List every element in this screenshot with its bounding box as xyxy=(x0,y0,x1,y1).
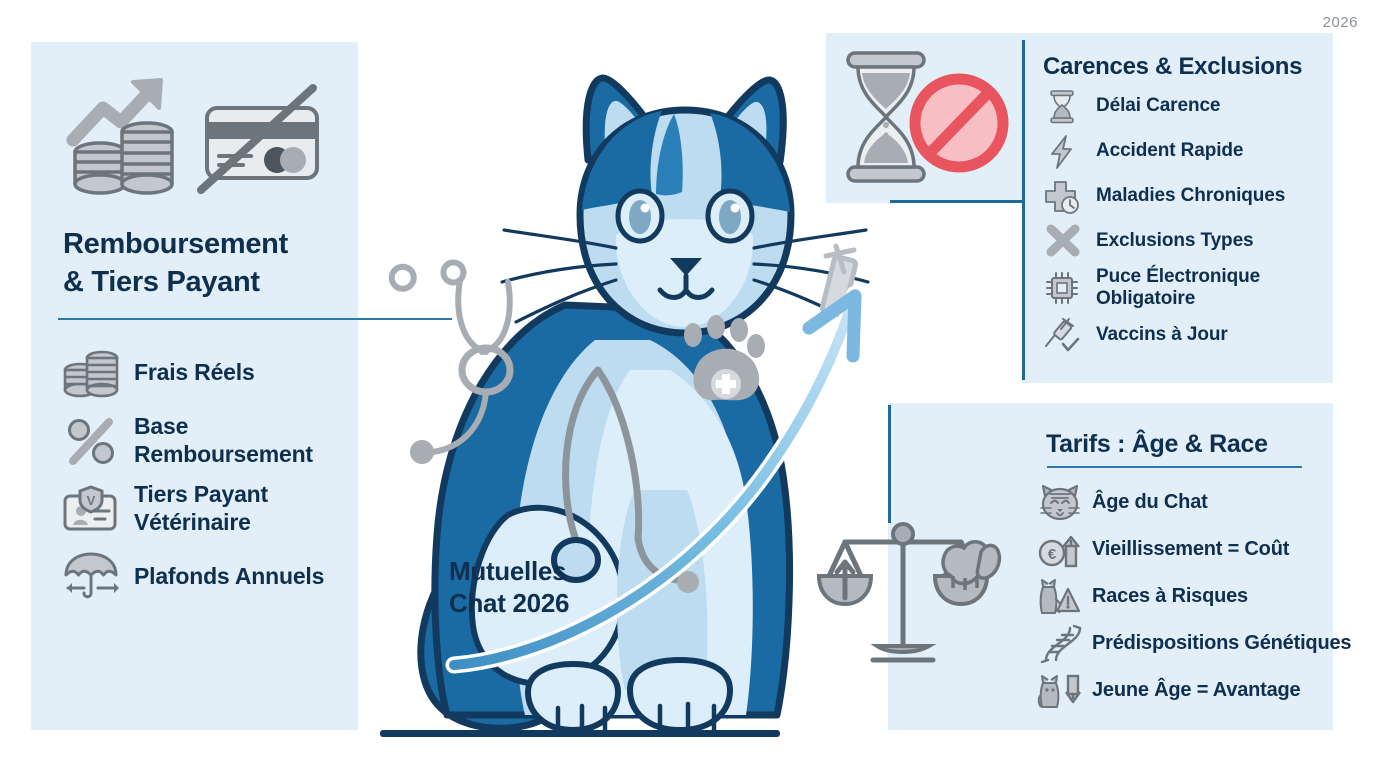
infographic-canvas: 2026 xyxy=(0,0,1376,768)
list-item[interactable]: V Tiers Payant Vétérinaire xyxy=(60,481,360,537)
percent-icon xyxy=(60,413,122,469)
carences-list: Délai Carence Accident Rapide Maladies C… xyxy=(1034,86,1354,360)
medical-cross-clock-icon xyxy=(1034,177,1090,217)
list-item-label: Maladies Chroniques xyxy=(1090,185,1285,207)
center-label: Mutuelles Chat 2026 xyxy=(449,556,639,619)
list-item[interactable]: Exclusions Types xyxy=(1034,221,1354,262)
coins-stack-icon xyxy=(60,345,122,401)
svg-text:€: € xyxy=(1048,546,1057,563)
list-item[interactable]: Maladies Chroniques xyxy=(1034,176,1354,217)
list-item[interactable]: Âge du Chat xyxy=(1032,483,1376,523)
list-item-label: Accident Rapide xyxy=(1090,140,1243,162)
list-item-label: Puce Électronique Obligatoire xyxy=(1090,266,1354,311)
hourglass-small-icon xyxy=(1034,87,1090,127)
list-item[interactable]: Jeune Âge = Avantage xyxy=(1032,671,1376,711)
list-item-label: Prédispositions Génétiques xyxy=(1088,632,1351,656)
cat-warning-icon xyxy=(1032,577,1088,617)
left-panel-list: Frais Réels Base Remboursement xyxy=(60,345,360,617)
list-item-label: Délai Carence xyxy=(1090,95,1220,117)
vet-card-icon: V xyxy=(60,481,122,537)
euro-up-arrow-icon: € xyxy=(1032,530,1088,570)
tarifs-left-accent xyxy=(888,405,891,523)
center-label-line1: Mutuelles xyxy=(449,556,639,588)
carences-title: Carences & Exclusions xyxy=(1043,53,1333,81)
list-item-label: Races à Risques xyxy=(1088,585,1248,609)
list-item[interactable]: Frais Réels xyxy=(60,345,360,401)
left-title-line1: Remboursement xyxy=(63,225,353,263)
tarifs-title: Tarifs : Âge & Race xyxy=(1046,430,1346,459)
cat-head xyxy=(502,78,868,333)
syringe-check-icon xyxy=(1034,315,1090,355)
list-item[interactable]: Délai Carence xyxy=(1034,86,1354,127)
tarifs-list: Âge du Chat € Vieillissement = Coût xyxy=(1032,483,1376,718)
balance-scale-cat-icon xyxy=(815,510,995,680)
microchip-icon xyxy=(1034,268,1090,308)
list-item-label: Vaccins à Jour xyxy=(1090,324,1228,346)
prohibition-icon xyxy=(915,79,1003,167)
lightning-bolt-icon xyxy=(1034,132,1090,172)
no-credit-card-icon xyxy=(201,88,317,190)
list-item[interactable]: Puce Électronique Obligatoire xyxy=(1034,266,1354,311)
list-item[interactable]: Accident Rapide xyxy=(1034,131,1354,172)
dna-helix-icon xyxy=(1032,624,1088,664)
list-item-label: Plafonds Annuels xyxy=(122,563,324,591)
list-item-label: Base Remboursement xyxy=(122,413,360,468)
svg-text:V: V xyxy=(87,493,96,508)
list-item[interactable]: Plafonds Annuels xyxy=(60,549,360,605)
list-item[interactable]: Base Remboursement xyxy=(60,413,360,469)
list-item[interactable]: Races à Risques xyxy=(1032,577,1376,617)
carences-left-accent xyxy=(1022,40,1025,380)
left-panel-title: Remboursement & Tiers Payant xyxy=(63,225,353,302)
kitten-down-arrow-icon xyxy=(1032,671,1088,711)
panel-carences-iconbox xyxy=(826,33,1022,203)
umbrella-icon xyxy=(60,549,122,605)
list-item-label: Jeune Âge = Avantage xyxy=(1088,679,1300,703)
left-title-line2: & Tiers Payant xyxy=(63,263,353,301)
carences-accent-line xyxy=(890,200,1030,203)
list-item-label: Âge du Chat xyxy=(1088,491,1208,515)
list-item-label: Tiers Payant Vétérinaire xyxy=(122,481,360,536)
list-item[interactable]: Vaccins à Jour xyxy=(1034,315,1354,356)
tarifs-title-underline xyxy=(1047,466,1302,468)
x-cross-icon xyxy=(1034,222,1090,262)
center-label-line2: Chat 2026 xyxy=(449,588,639,620)
cat-face-icon xyxy=(1032,483,1088,523)
list-item-label: Exclusions Types xyxy=(1090,230,1254,252)
list-item[interactable]: Prédispositions Génétiques xyxy=(1032,624,1376,664)
left-header-icons xyxy=(55,70,335,180)
year-badge: 2026 xyxy=(1323,14,1358,31)
growth-coins-icon xyxy=(73,80,172,193)
list-item[interactable]: € Vieillissement = Coût xyxy=(1032,530,1376,570)
list-item-label: Vieillissement = Coût xyxy=(1088,538,1289,562)
list-item-label: Frais Réels xyxy=(122,359,255,387)
